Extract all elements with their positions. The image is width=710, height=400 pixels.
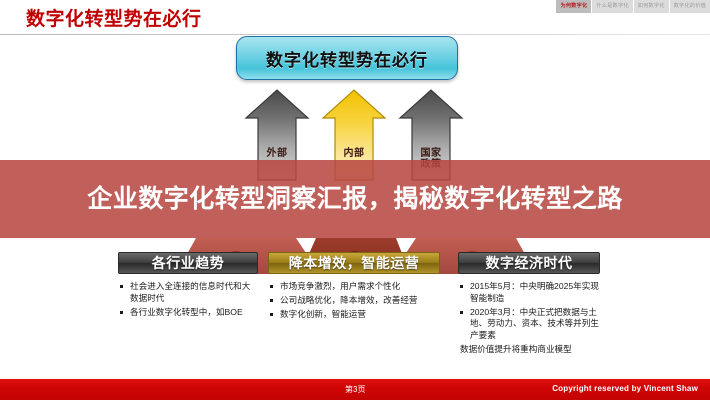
page-title: 数字化转型势在必行 [26,4,202,31]
section-nav-tabs[interactable]: 为何数字化 什么是数字化 如何数字化 数字化的价值 [556,0,710,13]
copyright-notice: Copyright reserved by Vincent Shaw [552,384,698,393]
nav-tab-digital-value[interactable]: 数字化的价值 [670,0,710,13]
nav-tab-what-is-digital[interactable]: 什么是数字化 [592,0,633,13]
column-digital-economy-era: 数字经济时代 2015年5月：中央明确2025年实现智能制造 2020年3月：中… [458,252,600,358]
column-bullets-industry-trends: 社会进入全连接的信息时代和大数据时代 各行业数字化转型中，如BOE [118,281,258,318]
list-item: 社会进入全连接的信息时代和大数据时代 [118,281,258,304]
list-item: 各行业数字化转型中，如BOE [118,307,258,319]
page-number: 第3页 [345,384,365,395]
column-industry-trends: 各行业趋势 社会进入全连接的信息时代和大数据时代 各行业数字化转型中，如BOE [118,252,258,321]
nav-tab-how-to-digital[interactable]: 如何数字化 [634,0,670,13]
list-item: 数字化创新，智能运营 [268,309,440,321]
overlay-banner: 企业数字化转型洞察汇报，揭秘数字化转型之路 [0,160,710,238]
column-heading-industry-trends: 各行业趋势 [118,252,258,274]
list-item: 2015年5月：中央明确2025年实现智能制造 [458,281,600,304]
column-bullets-cost-reduction: 市场竞争激烈，用户需求个性化 公司战略优化，降本增效，改善经营 数字化创新，智能… [268,281,440,321]
list-item: 市场竞争激烈，用户需求个性化 [268,281,440,293]
column-footnote: 数据价值提升将重构商业模型 [458,344,600,356]
content-columns: 各行业趋势 社会进入全连接的信息时代和大数据时代 各行业数字化转型中，如BOE … [0,252,710,377]
diagram-main-capsule: 数字化转型势在必行 [236,36,458,80]
slide-footer: 第3页 Copyright reserved by Vincent Shaw [0,379,710,400]
overlay-headline: 企业数字化转型洞察汇报，揭秘数字化转型之路 [55,183,655,215]
diagram-main-capsule-label: 数字化转型势在必行 [266,46,428,71]
presentation-slide: 数字化转型势在必行 为何数字化 什么是数字化 如何数字化 数字化的价值 数字化转… [0,0,710,400]
nav-tab-why-digital[interactable]: 为何数字化 [556,0,592,13]
header-divider [0,34,710,35]
list-item: 公司战略优化，降本增效，改善经营 [268,295,440,307]
list-item: 2020年3月：中央正式把数据与土地、劳动力、资本、技术等并列生产要素 [458,307,600,342]
column-heading-cost-reduction: 降本增效，智能运营 [268,252,440,274]
slide-header: 数字化转型势在必行 为何数字化 什么是数字化 如何数字化 数字化的价值 [0,0,710,35]
column-bullets-digital-economy-era: 2015年5月：中央明确2025年实现智能制造 2020年3月：中央正式把数据与… [458,281,600,355]
column-cost-reduction: 降本增效，智能运营 市场竞争激烈，用户需求个性化 公司战略优化，降本增效，改善经… [268,252,440,323]
column-heading-digital-economy-era: 数字经济时代 [458,252,600,274]
